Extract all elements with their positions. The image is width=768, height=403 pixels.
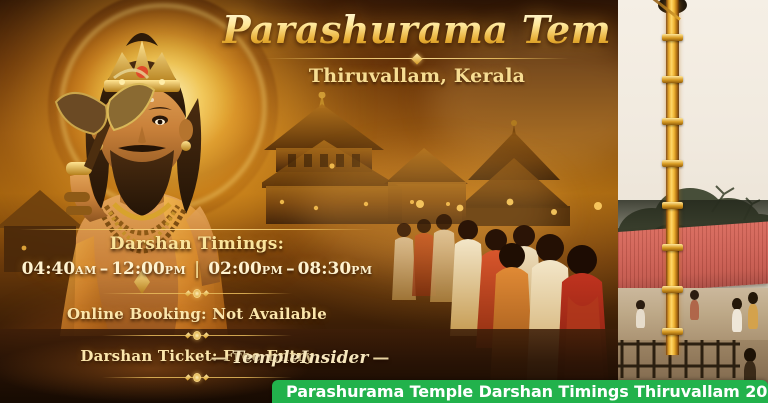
diamond-ornament-icon xyxy=(183,372,211,382)
session1-start-meridiem: AM xyxy=(75,264,97,277)
flagpole-ring xyxy=(662,160,683,167)
session1-end: 12:00 xyxy=(111,259,165,279)
caption-text: Parashurama Temple Darshan Timings Thiru… xyxy=(286,383,768,401)
flagpole-ring xyxy=(662,34,683,41)
flagpole-ring xyxy=(662,286,683,293)
diamond-ornament-icon xyxy=(183,288,211,298)
brand-name: TempleInsider xyxy=(232,348,369,368)
courtyard-person xyxy=(636,300,645,328)
temple-poster: Parashurama Temple Thiruvallam, Kerala D… xyxy=(0,0,768,403)
session2-start-meridiem: PM xyxy=(262,264,283,277)
courtyard-fence xyxy=(618,336,740,380)
page-subtitle: Thiruvallam, Kerala xyxy=(222,64,612,88)
online-booking-line: Online Booking: Not Available xyxy=(0,302,394,326)
flagpole-ring xyxy=(662,328,683,335)
artwork-panel: Parashurama Temple Thiruvallam, Kerala D… xyxy=(0,0,618,403)
flagpole-ring xyxy=(662,118,683,125)
courtyard-person xyxy=(690,290,699,320)
session1-start: 04:40 xyxy=(22,259,76,279)
temple-red-roof xyxy=(618,222,768,294)
timings-top-rule xyxy=(0,226,394,233)
title-divider-ornament xyxy=(265,54,569,63)
temple-flagpole xyxy=(666,0,679,355)
brand-watermark: —TempleInsider— xyxy=(190,348,410,368)
divider-ornament-2 xyxy=(0,329,394,341)
session2-start: 02:00 xyxy=(208,259,262,279)
title-block: Parashurama Temple Thiruvallam, Kerala xyxy=(222,8,612,88)
temple-photo-panel xyxy=(618,0,768,403)
flagpole-ring xyxy=(662,202,683,209)
darshan-timings-label: Darshan Timings: xyxy=(0,233,394,256)
darshan-timings-value: 04:40AM–12:00PM|02:00PM–08:30PM xyxy=(0,256,394,284)
session-separator: | xyxy=(186,259,208,279)
session1-end-meridiem: PM xyxy=(165,264,186,277)
diamond-ornament-icon xyxy=(183,330,211,340)
page-title: Parashurama Temple xyxy=(222,8,612,52)
session2-end-meridiem: PM xyxy=(351,264,372,277)
range-dash-2: – xyxy=(283,259,298,279)
courtyard-person xyxy=(748,292,758,328)
range-dash-1: – xyxy=(97,259,112,279)
divider-ornament-1 xyxy=(0,287,394,299)
courtyard-person xyxy=(732,298,742,332)
brand-dash-right: — xyxy=(368,348,393,368)
session2-end: 08:30 xyxy=(298,259,352,279)
caption-banner: Parashurama Temple Darshan Timings Thiru… xyxy=(272,380,768,403)
flagpole-ring xyxy=(662,76,683,83)
brand-dash-left: — xyxy=(207,348,232,368)
flagpole-ring xyxy=(662,244,683,251)
